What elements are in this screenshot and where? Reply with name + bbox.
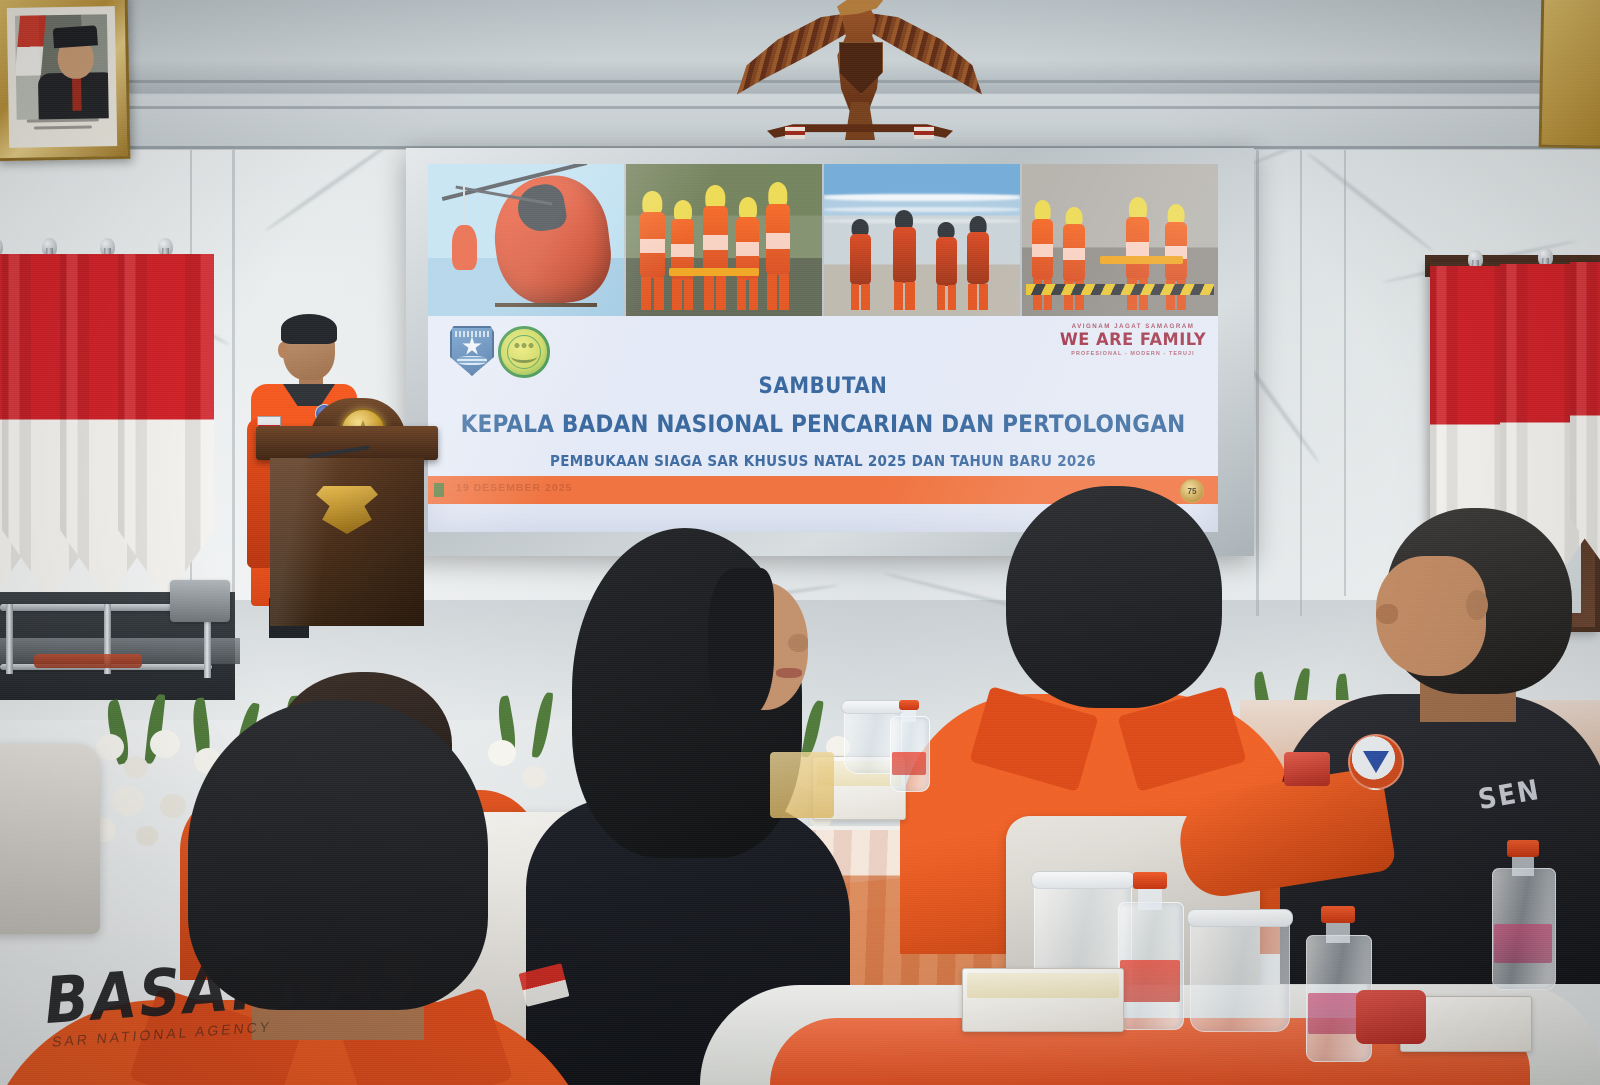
indonesian-flags-left	[0, 238, 234, 638]
green-circle-logo-icon	[498, 326, 550, 378]
slide-photo-strip	[428, 164, 1218, 316]
attendee-foreground-left	[0, 700, 600, 1085]
slide-photo-evacuation	[1022, 164, 1218, 316]
motto-bottom-text: PROFESIONAL - MODERN - TERUJI	[1064, 352, 1202, 357]
wooden-podium	[256, 398, 438, 628]
stage-red-object	[34, 654, 142, 668]
red-item-right-table	[1284, 752, 1330, 786]
water-bottle[interactable]	[1118, 872, 1182, 1030]
rail-post	[6, 604, 13, 674]
slide-photo-rescue-team	[626, 164, 822, 316]
plastic-cup[interactable]	[1190, 914, 1290, 1032]
presidential-portrait-frame	[0, 0, 130, 161]
snack-box[interactable]	[962, 968, 1124, 1032]
slide-body: AVIGNAM JAGAT SAMAGRAM WE ARE FAMILY PRO…	[428, 316, 1218, 504]
second-portrait-frame	[1539, 0, 1600, 149]
slide-title-block: SAMBUTAN KEPALA BADAN NASIONAL PENCARIAN…	[428, 374, 1218, 470]
we-are-family-motto: AVIGNAM JAGAT SAMAGRAM WE ARE FAMILY PRO…	[1064, 324, 1202, 358]
water-bottle-left-table[interactable]	[890, 700, 928, 792]
slide-photo-beach-search	[824, 164, 1020, 316]
motto-main-text: WE ARE FAMILY	[1060, 332, 1206, 349]
slide-date-text: 19 DESEMBER 2025	[456, 482, 572, 494]
red-item	[1356, 990, 1426, 1044]
stage-block	[170, 580, 230, 622]
slide-title-line2: KEPALA BADAN NASIONAL PENCARIAN DAN PERT…	[428, 410, 1218, 438]
slide-photo-helicopter	[428, 164, 624, 316]
yellow-box	[770, 752, 834, 818]
garuda-pancasila-icon	[737, 0, 982, 159]
basarnas-shield-icon	[450, 326, 494, 376]
portrait-caption	[17, 114, 109, 140]
water-bottle[interactable]	[1492, 840, 1554, 990]
civil-protection-patch-icon	[1348, 734, 1404, 790]
portrait-photo	[15, 14, 109, 120]
photograph-scene: AVIGNAM JAGAT SAMAGRAM WE ARE FAMILY PRO…	[0, 0, 1600, 1085]
slide-title-line1: SAMBUTAN	[428, 374, 1218, 399]
projection-screen[interactable]: AVIGNAM JAGAT SAMAGRAM WE ARE FAMILY PRO…	[428, 164, 1218, 532]
slide-subtitle: PEMBUKAAN SIAGA SAR KHUSUS NATAL 2025 DA…	[428, 452, 1218, 470]
